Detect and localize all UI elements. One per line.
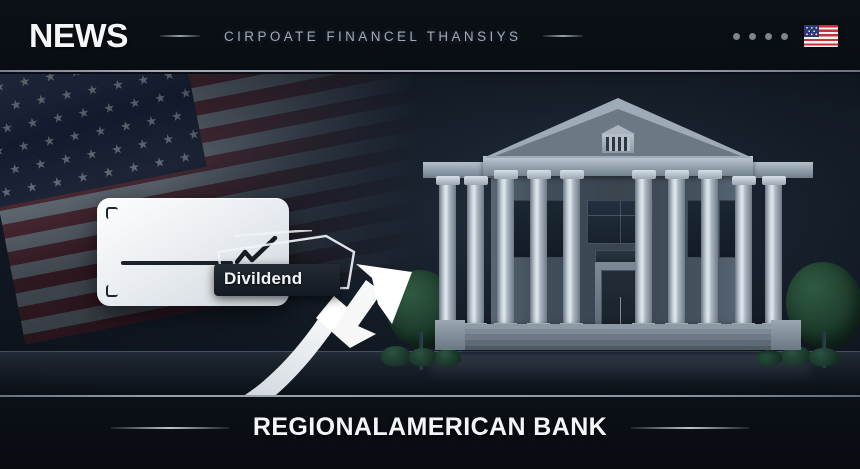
bank-column	[701, 178, 718, 324]
check-corner-bottom-left	[106, 285, 118, 297]
header-right-cluster	[733, 0, 838, 72]
header-right-rule	[543, 35, 583, 37]
header-dot-3	[765, 33, 772, 40]
news-logo: NEWS	[29, 17, 128, 55]
bank-plinth-right	[771, 320, 801, 350]
ground-reflection	[430, 353, 810, 387]
header-bar: NEWS CIRPOATE FINANCEL THANSIYS	[0, 0, 860, 72]
footer-row: REGIONALAMERICAN BANK	[0, 413, 860, 442]
arrow-curve	[124, 296, 348, 395]
dividend-tag: Divildend	[214, 250, 354, 296]
dividend-tag-body: Divildend	[214, 264, 340, 296]
check-corner-top-left	[106, 207, 118, 219]
bank-column	[668, 178, 685, 324]
footer-rule-right	[631, 427, 749, 429]
footer-bar: REGIONALAMERICAN BANK	[0, 395, 860, 469]
bank-column	[439, 184, 456, 324]
bank-column	[467, 184, 484, 324]
bank-column	[735, 184, 752, 324]
news-graphic-root: NEWS CIRPOATE FINANCEL THANSIYS ★★★★★★★★…	[0, 0, 860, 469]
temple-columns	[606, 137, 630, 151]
footer-title: REGIONALAMERICAN BANK	[253, 413, 607, 442]
dividend-tag-label: Divildend	[224, 269, 302, 289]
bank-column	[563, 178, 580, 324]
header-left-rule	[160, 35, 200, 37]
pediment-temple-motif	[601, 125, 635, 153]
bank-column	[635, 178, 652, 324]
flag-canton	[804, 25, 819, 37]
header-dot-4	[781, 33, 788, 40]
shrub-right-2	[809, 348, 839, 366]
header-dot-1	[733, 33, 740, 40]
bank-steps	[459, 324, 777, 350]
bank-plinth-left	[435, 320, 465, 350]
bank-building	[425, 92, 811, 354]
header-kicker: CIRPOATE FINANCEL THANSIYS	[224, 29, 521, 44]
temple-roof	[601, 125, 635, 134]
hero-image: ★★★★★★★★★★★★★★★★★★★★★★★★★★★★★★★★★★★★★★★★…	[0, 74, 860, 395]
header-dot-2	[749, 33, 756, 40]
footer-rule-left	[111, 427, 229, 429]
us-flag-icon	[804, 25, 838, 47]
bank-pediment	[483, 98, 753, 160]
bank-column	[765, 184, 782, 324]
bank-column	[530, 178, 547, 324]
bank-column	[497, 178, 514, 324]
